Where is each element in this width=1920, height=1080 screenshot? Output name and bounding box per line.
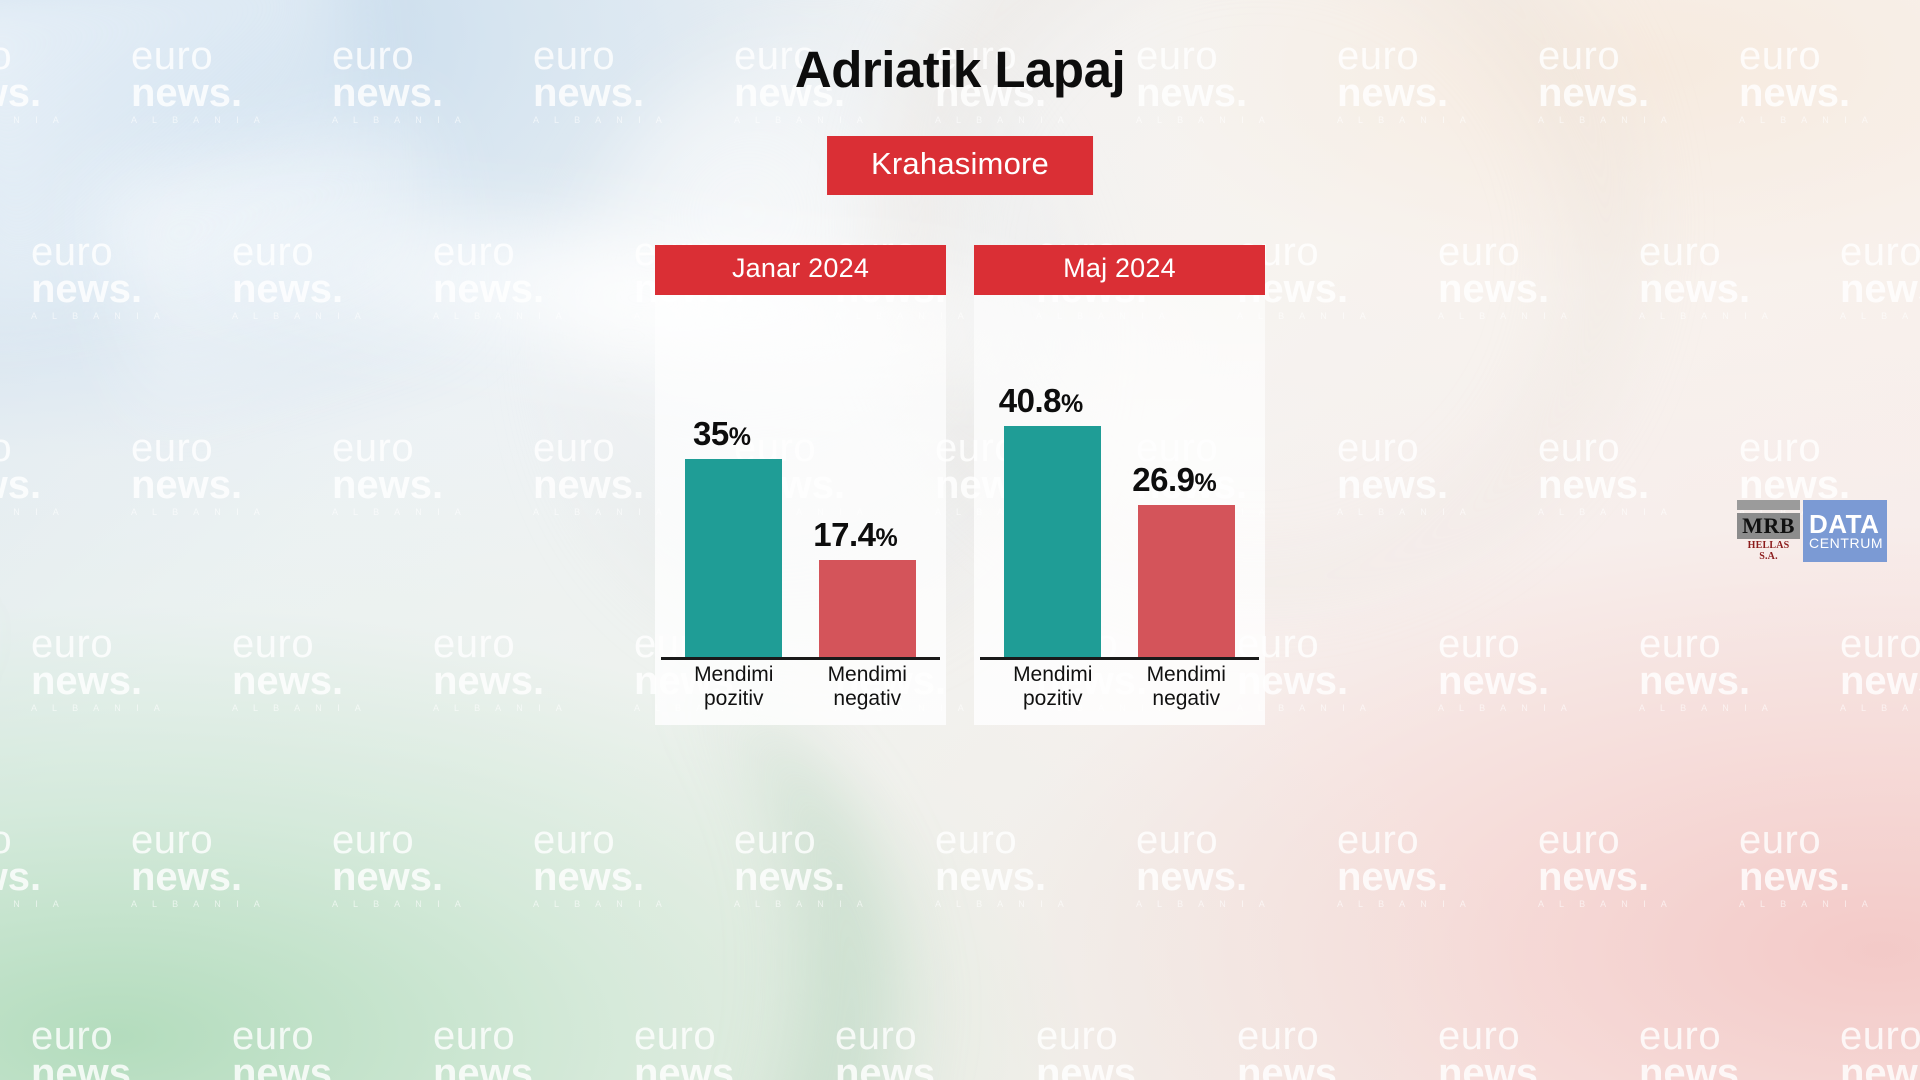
x-axis-label: Mendiminegativ [1132,663,1240,710]
bar-value-number: 40.8 [999,382,1061,419]
chart-panel: Maj 202440.8%26.9%MendimipozitivMendimin… [974,245,1265,725]
data-centrum-block: DATA CENTRUM [1803,500,1887,562]
bar-value-number: 35 [693,415,729,452]
chart-panels: Janar 202435%17.4%MendimipozitivMendimin… [655,245,1265,725]
panel-header: Maj 2024 [974,245,1265,295]
x-axis-label-line2: pozitiv [680,687,788,711]
data-centrum-centrum-text: CENTRUM [1809,536,1887,550]
x-axis-label-line2: negativ [1132,687,1240,711]
x-axis-label: Mendiminegativ [813,663,921,710]
bar-value-label: 26.9% [1132,461,1216,499]
bar-positive [685,459,782,659]
bar-group: 17.4% [813,305,921,659]
bar-value-label: 17.4% [813,516,897,554]
x-axis-label-line1: Mendimi [813,663,921,687]
bar-value-number: 17.4 [813,516,875,553]
data-centrum-logo: MRB HELLAS S.A. DATA CENTRUM [1737,500,1887,562]
bar-value-percent-sign: % [1061,390,1083,418]
bar-container: 40.8%26.9% [986,305,1253,659]
x-axis-label-line1: Mendimi [680,663,788,687]
panel-body: 35%17.4%MendimipozitivMendiminegativ [655,295,946,725]
bar-group: 40.8% [999,305,1107,659]
x-axis-labels: MendimipozitivMendiminegativ [986,659,1253,719]
mrb-hellas-text: HELLAS S.A. [1737,540,1800,562]
panel-body: 40.8%26.9%MendimipozitivMendiminegativ [974,295,1265,725]
x-axis-label: Mendimipozitiv [999,663,1107,710]
bar-value-percent-sign: % [729,423,751,451]
mrb-logo-block: MRB HELLAS S.A. [1737,500,1800,562]
bar-negative [1138,505,1235,659]
broadcast-graphic-stage: euronews.A L B A N I Aeuronews.A L B A N… [0,0,1920,1080]
panel-header: Janar 2024 [655,245,946,295]
data-centrum-data-text: DATA [1809,512,1887,537]
mrb-logo-top-bar [1737,500,1800,510]
subtitle-banner: Krahasimore [827,136,1093,195]
x-axis-label-line2: negativ [813,687,921,711]
bar-positive [1004,426,1101,659]
graphic-content: Adriatik Lapaj Krahasimore Janar 202435%… [0,0,1920,1080]
bar-value-label: 35% [693,415,750,453]
bar-container: 35%17.4% [667,305,934,659]
chart-panel: Janar 202435%17.4%MendimipozitivMendimin… [655,245,946,725]
bar-value-percent-sign: % [876,524,898,552]
bar-group: 26.9% [1132,305,1240,659]
page-title: Adriatik Lapaj [0,40,1920,99]
bar-negative [819,560,916,659]
x-axis-label-line1: Mendimi [999,663,1107,687]
mrb-logo-text: MRB [1737,513,1800,539]
x-axis-label: Mendimipozitiv [680,663,788,710]
x-axis-labels: MendimipozitivMendiminegativ [667,659,934,719]
bar-value-label: 40.8% [999,382,1083,420]
bar-value-number: 26.9 [1132,461,1194,498]
x-axis-label-line2: pozitiv [999,687,1107,711]
x-axis-label-line1: Mendimi [1132,663,1240,687]
bar-group: 35% [680,305,788,659]
bar-value-percent-sign: % [1195,469,1217,497]
